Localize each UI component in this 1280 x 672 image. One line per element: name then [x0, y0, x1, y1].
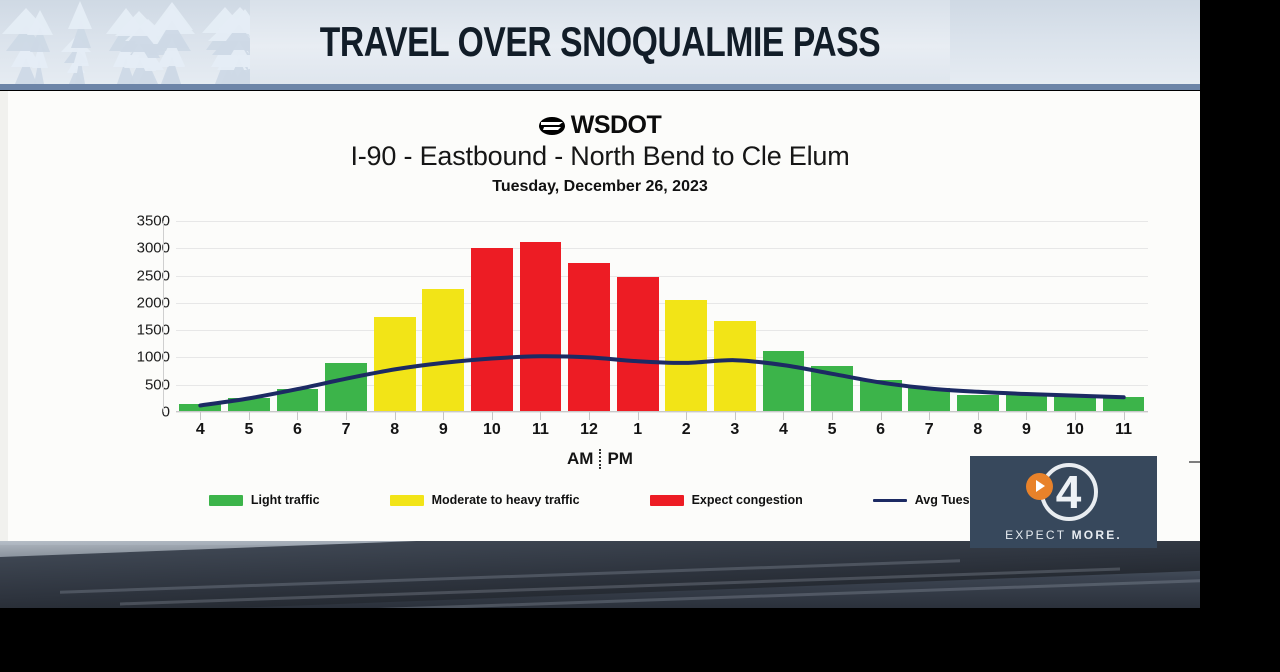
- pm-label: PM: [607, 449, 633, 469]
- wsdot-wordmark: WSDOT: [571, 111, 662, 140]
- legend-swatch: [873, 499, 907, 502]
- x-axis-tick-label: 9: [419, 421, 468, 439]
- avg-tuesday-path: [200, 356, 1123, 405]
- snow-tree-shape: [68, 0, 94, 84]
- top-banner: TRAVEL OVER SNOQUALMIE PASS: [0, 0, 1200, 90]
- snow-tree-shape: [27, 7, 53, 84]
- x-axis-tick-label: 8: [954, 421, 1003, 439]
- wsdot-brand: WSDOT: [0, 111, 1200, 142]
- legend-item: Moderate to heavy traffic: [390, 493, 580, 507]
- x-axis-tick-label: 4: [759, 421, 808, 439]
- y-axis-tick-label: 1500: [137, 322, 170, 339]
- x-axis-tick: [370, 412, 419, 420]
- chart-subtitle: Tuesday, December 26, 2023: [0, 178, 1200, 196]
- x-axis-tick-label: 9: [1002, 421, 1051, 439]
- x-axis-tick-label: 2: [662, 421, 711, 439]
- legend-label: Light traffic: [251, 493, 320, 507]
- legend-item: Light traffic: [209, 493, 320, 507]
- legend-item: Expect congestion: [650, 493, 803, 507]
- x-axis-tick-label: 6: [273, 421, 322, 439]
- x-axis-tick: [808, 412, 857, 420]
- x-axis-tick: [613, 412, 662, 420]
- station-logo: 4 EXPECT MORE.: [970, 456, 1157, 548]
- snowy-road-image: [0, 541, 1200, 608]
- screenshot-root: TRAVEL OVER SNOQUALMIE PASS WSDOT I-90 -…: [0, 0, 1280, 672]
- wsdot-logo-icon: [539, 115, 565, 137]
- x-axis-tick-label: 10: [1051, 421, 1100, 439]
- x-axis-tick-label: 7: [322, 421, 371, 439]
- y-axis-tick-label: 2500: [137, 267, 170, 284]
- x-axis-tick: [1002, 412, 1051, 420]
- am-pm-separator-icon: [599, 449, 601, 469]
- x-axis-tick-label: 3: [711, 421, 760, 439]
- x-axis-tick-label: 11: [516, 421, 565, 439]
- legend-swatch: [390, 495, 424, 506]
- x-axis-tick-label: 12: [565, 421, 614, 439]
- x-axis-tick: [225, 412, 274, 420]
- bottom-letterbox: [0, 608, 1200, 672]
- station-logo-mark: 4: [1026, 463, 1102, 521]
- station-tagline: EXPECT MORE.: [1005, 528, 1122, 542]
- legend-label: Expect congestion: [692, 493, 803, 507]
- right-letterbox: [1200, 0, 1280, 672]
- y-axis-labels: 0500100015002000250030003500: [108, 221, 170, 413]
- y-axis-tick-label: 3000: [137, 240, 170, 257]
- x-axis-tick: [176, 412, 225, 420]
- x-axis-tick: [273, 412, 322, 420]
- avg-tuesday-line: [176, 221, 1148, 412]
- x-axis-tick: [759, 412, 808, 420]
- x-axis-tick: [1099, 412, 1148, 420]
- banner-divider: [0, 84, 1200, 90]
- logo-edge-tick: [1189, 461, 1200, 463]
- x-axis-tick-label: 4: [176, 421, 225, 439]
- y-axis-tick-label: 2000: [137, 294, 170, 311]
- x-axis-tick-label: 1: [613, 421, 662, 439]
- x-axis-tick: [322, 412, 371, 420]
- x-axis-tick-label: 5: [808, 421, 857, 439]
- x-axis-labels: 4567891011121234567891011: [176, 421, 1148, 439]
- y-axis-tick-label: 1000: [137, 349, 170, 366]
- tagline-bold: MORE.: [1072, 528, 1122, 542]
- y-axis-line: [163, 221, 164, 412]
- x-axis-tick-label: 6: [856, 421, 905, 439]
- tagline-light: EXPECT: [1005, 528, 1072, 542]
- y-axis-tick-label: 500: [145, 376, 170, 393]
- x-axis-tick: [419, 412, 468, 420]
- x-axis-tick-label: 11: [1099, 421, 1148, 439]
- am-label: AM: [567, 449, 593, 469]
- x-axis-tick-label: 10: [468, 421, 517, 439]
- x-axis-tick-label: 5: [225, 421, 274, 439]
- legend-swatch: [209, 495, 243, 506]
- x-axis-tick: [954, 412, 1003, 420]
- x-axis-tick: [1051, 412, 1100, 420]
- legend-label: Moderate to heavy traffic: [432, 493, 580, 507]
- x-axis-tick: [468, 412, 517, 420]
- legend-swatch: [650, 495, 684, 506]
- x-axis-tick-label: 7: [905, 421, 954, 439]
- plot-canvas: [176, 221, 1148, 412]
- x-axis-tick: [856, 412, 905, 420]
- x-axis-tick: [565, 412, 614, 420]
- x-axis-tick: [516, 412, 565, 420]
- x-axis-tick: [662, 412, 711, 420]
- x-axis-tick: [711, 412, 760, 420]
- chart-title: I-90 - Eastbound - North Bend to Cle Elu…: [0, 141, 1200, 172]
- play-triangle-icon: [1026, 473, 1053, 500]
- page-title: TRAVEL OVER SNOQUALMIE PASS: [120, 0, 1080, 84]
- x-axis-tick-label: 8: [370, 421, 419, 439]
- y-axis-tick-label: 3500: [137, 213, 170, 230]
- x-axis-tick: [905, 412, 954, 420]
- x-axis-ticks: [176, 412, 1148, 420]
